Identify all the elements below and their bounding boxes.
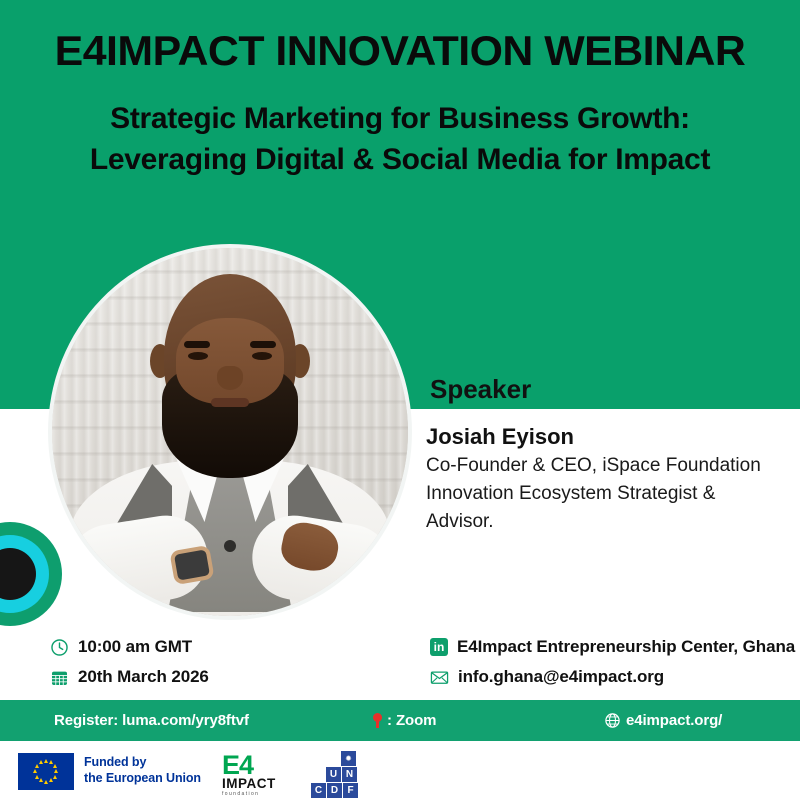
uncdf-block-u: U [326, 767, 341, 782]
linkedin-row[interactable]: in E4Impact Entrepreneurship Center, Gha… [430, 634, 795, 660]
eu-star-icon [54, 769, 58, 773]
subtitle-line-1: Strategic Marketing for Business Growth: [110, 102, 690, 135]
photo-lips [211, 398, 249, 407]
eu-star-icon [53, 764, 57, 768]
webinar-poster: E4IMPACT INNOVATION WEBINAR Strategic Ma… [0, 0, 800, 800]
eu-star-icon [44, 759, 48, 763]
un-emblem-icon: ✹ [341, 751, 356, 766]
photo-face [176, 318, 284, 404]
eu-star-icon [53, 775, 57, 779]
email-row[interactable]: info.ghana@e4impact.org [430, 664, 795, 690]
speaker-info: Josiah Eyison Co-Founder & CEO, iSpace F… [426, 422, 792, 536]
e4impact-logo-e4: E4 [222, 753, 300, 777]
email-text: info.ghana@e4impact.org [458, 667, 664, 687]
speaker-photo [48, 244, 412, 620]
eu-star-icon [49, 778, 53, 782]
calendar-icon [50, 668, 69, 687]
event-time-row: 10:00 am GMT [50, 634, 209, 660]
platform-info: : Zoom [373, 700, 436, 741]
event-date-text: 20th March 2026 [78, 667, 209, 687]
map-pin-icon [373, 713, 382, 728]
photo-eyebrow-right [250, 341, 276, 348]
register-link[interactable]: Register: luma.com/yry8ftvf [54, 700, 249, 741]
footer: Funded by the European Union E4 IMPACT f… [0, 741, 800, 800]
eu-funding-line-1: Funded by [84, 754, 201, 770]
website-text: e4impact.org/ [626, 712, 722, 729]
e4impact-logo-impact: IMPACT [222, 777, 300, 791]
envelope-icon[interactable] [430, 668, 449, 687]
eu-star-icon [44, 780, 48, 784]
uncdf-block-c: C [311, 783, 326, 798]
event-details: 10:00 am GMT 20th March 2026 [0, 634, 800, 696]
eu-star-icon [35, 775, 39, 779]
eu-funding-line-2: the European Union [84, 770, 201, 786]
photo-vest-button [224, 540, 236, 552]
event-details-left: 10:00 am GMT 20th March 2026 [50, 634, 209, 694]
event-details-right: in E4Impact Entrepreneurship Center, Gha… [430, 634, 795, 694]
photo-wristwatch [169, 545, 214, 585]
speaker-heading: Speaker [430, 374, 531, 405]
speaker-name: Josiah Eyison [426, 422, 792, 452]
eu-star-icon [39, 760, 43, 764]
eu-funding-text: Funded by the European Union [84, 754, 201, 786]
register-bar: Register: luma.com/yry8ftvf : Zoom e4imp… [0, 700, 800, 741]
eu-star-icon [33, 769, 37, 773]
event-time-text: 10:00 am GMT [78, 637, 192, 657]
photo-nose [217, 366, 243, 390]
subtitle-line-2: Leveraging Digital & Social Media for Im… [0, 139, 800, 180]
uncdf-logo: ✹ U N C D F [315, 751, 373, 793]
page-subtitle: Strategic Marketing for Business Growth:… [0, 98, 800, 180]
linkedin-icon[interactable]: in [430, 638, 448, 656]
uncdf-block-n: N [342, 767, 357, 782]
speaker-bio-line-1: Co-Founder & CEO, iSpace Foundation [426, 452, 792, 480]
photo-eyebrow-left [184, 341, 210, 348]
uncdf-block-d: D [327, 783, 342, 798]
website-link[interactable]: e4impact.org/ [604, 700, 722, 741]
speaker-bio-line-2: Innovation Ecosystem Strategist & [426, 480, 792, 508]
globe-icon [604, 712, 621, 729]
speaker-bio-line-3: Advisor. [426, 508, 792, 536]
eu-star-icon [39, 778, 43, 782]
event-date-row: 20th March 2026 [50, 664, 209, 690]
register-link-text: Register: luma.com/yry8ftvf [54, 712, 249, 729]
uncdf-block-f: F [343, 783, 358, 798]
eu-star-icon [35, 764, 39, 768]
clock-icon [50, 638, 69, 657]
e4impact-logo: E4 IMPACT foundation [222, 753, 300, 791]
e4impact-logo-foundation: foundation [222, 791, 300, 797]
european-union-flag [18, 753, 74, 790]
platform-text: : Zoom [387, 712, 436, 729]
linkedin-text: E4Impact Entrepreneurship Center, Ghana [457, 637, 795, 657]
photo-eye-right [252, 352, 272, 360]
photo-eye-left [188, 352, 208, 360]
page-title: E4IMPACT INNOVATION WEBINAR [0, 27, 800, 75]
